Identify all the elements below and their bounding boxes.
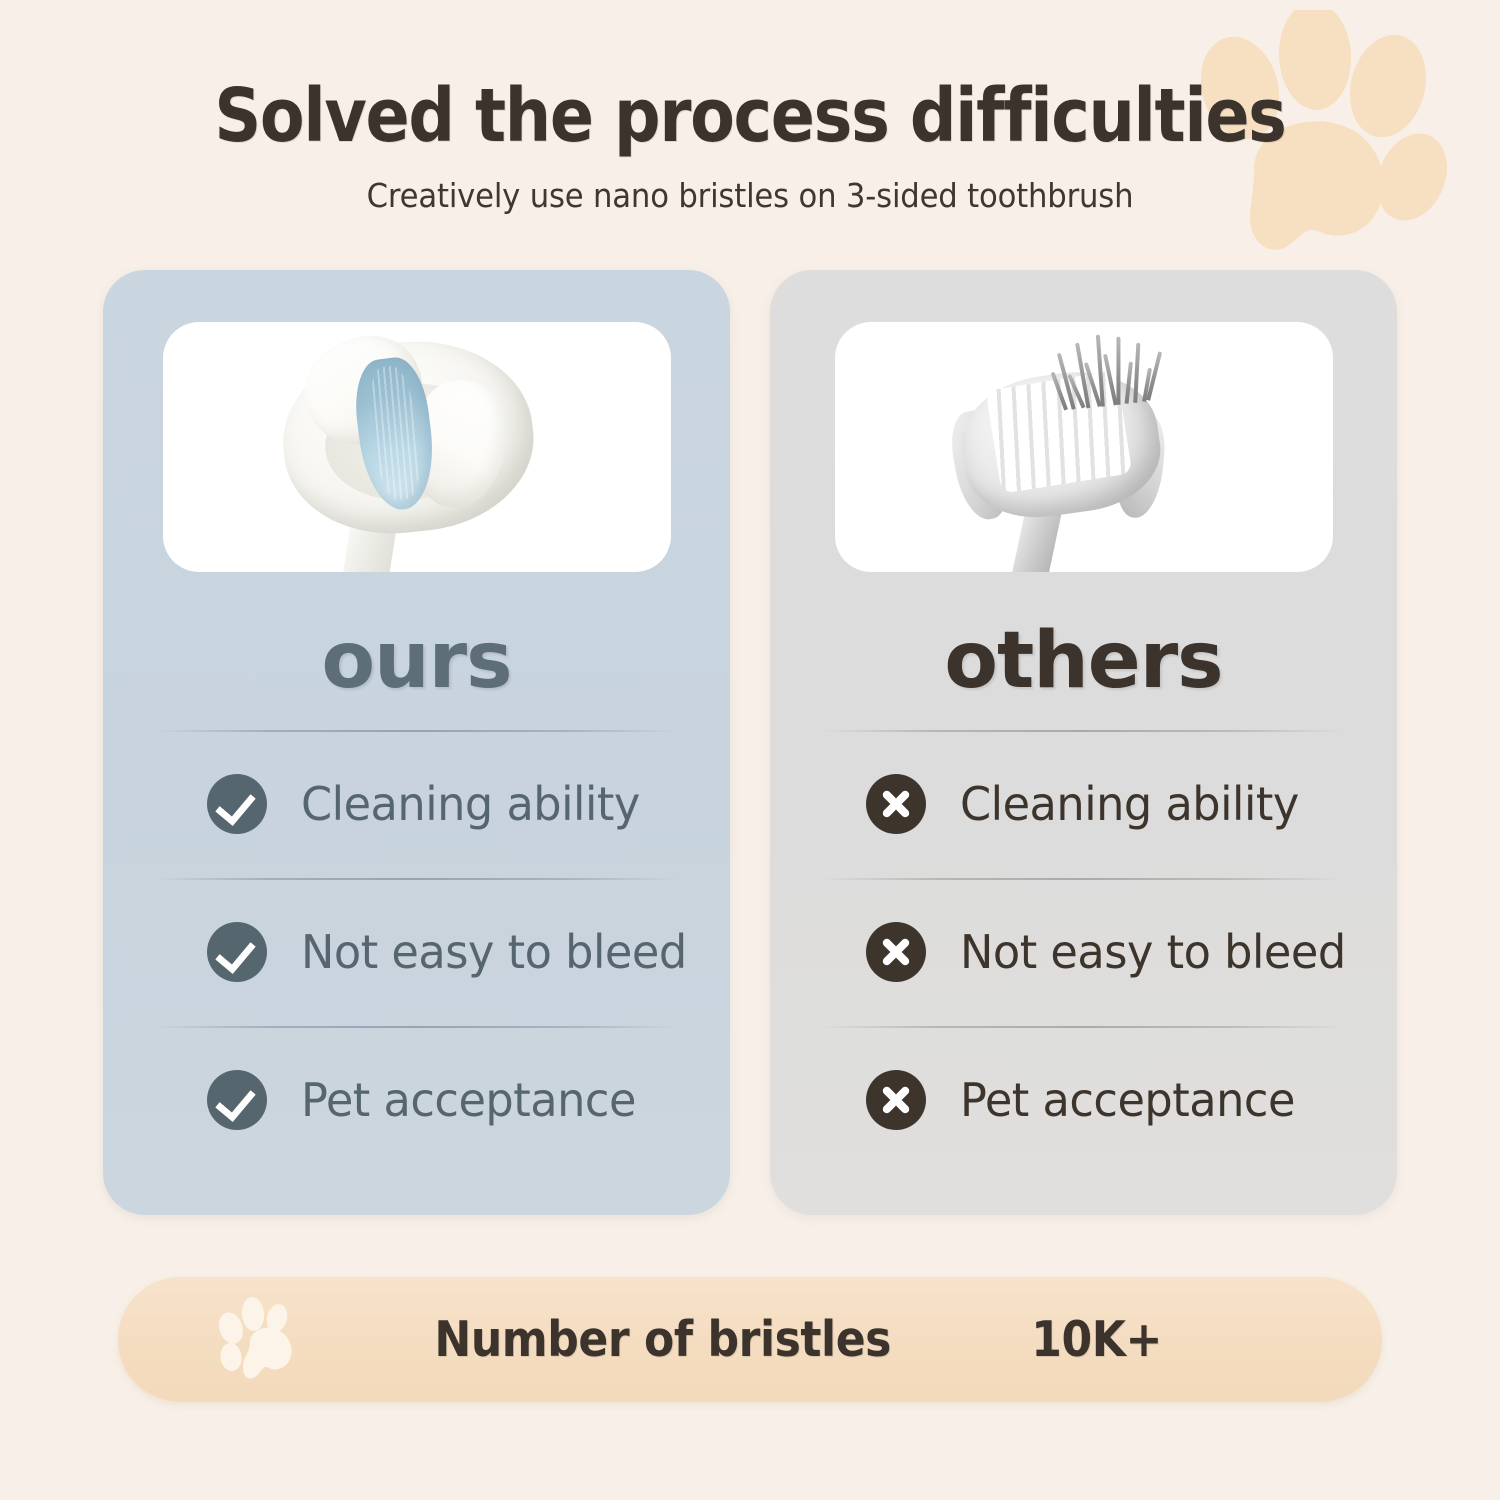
comparison-cards: ours Cleaning ability Not easy to bleed … (103, 270, 1397, 1215)
card-heading-ours: ours (103, 622, 730, 700)
page-title: Solved the process difficulties (90, 0, 1410, 156)
comparison-card-ours: ours Cleaning ability Not easy to bleed … (103, 270, 730, 1215)
product-image-others (835, 322, 1333, 572)
check-icon (207, 1070, 267, 1130)
cross-icon (866, 774, 926, 834)
feature-label: Cleaning ability (301, 777, 640, 831)
feature-label: Not easy to bleed (301, 925, 687, 979)
row-divider (155, 878, 678, 880)
feature-row: Cleaning ability (103, 730, 730, 878)
banner-value: 10K+ (1031, 1311, 1162, 1368)
cross-icon (866, 1070, 926, 1130)
page-subtitle: Creatively use nano bristles on 3-sided … (53, 156, 1448, 215)
feature-row: Cleaning ability (770, 730, 1397, 878)
row-divider (155, 1026, 678, 1028)
row-divider (822, 1026, 1345, 1028)
feature-row: Not easy to bleed (103, 878, 730, 1026)
feature-list-ours: Cleaning ability Not easy to bleed Pet a… (103, 730, 730, 1174)
feature-label: Not easy to bleed (960, 925, 1346, 979)
check-icon (207, 774, 267, 834)
cross-icon (866, 922, 926, 982)
feature-label: Cleaning ability (960, 777, 1299, 831)
toothbrush-ours-illustration (163, 322, 671, 572)
row-divider (822, 878, 1345, 880)
banner-text-group: Number of bristles 10K+ (306, 1311, 1382, 1368)
bristle-count-banner: Number of bristles 10K+ (118, 1277, 1382, 1402)
paw-print-icon (214, 1294, 306, 1386)
row-divider (155, 730, 678, 732)
feature-label: Pet acceptance (960, 1073, 1295, 1127)
banner-label: Number of bristles (434, 1311, 891, 1368)
feature-row: Pet acceptance (103, 1026, 730, 1174)
feature-label: Pet acceptance (301, 1073, 636, 1127)
check-icon (207, 922, 267, 982)
product-image-ours (163, 322, 671, 572)
feature-list-others: Cleaning ability Not easy to bleed Pet a… (770, 730, 1397, 1174)
card-heading-others: others (770, 622, 1397, 700)
comparison-card-others: others Cleaning ability Not easy to blee… (770, 270, 1397, 1215)
feature-row: Pet acceptance (770, 1026, 1397, 1174)
row-divider (822, 730, 1345, 732)
toothbrush-others-illustration (835, 322, 1333, 572)
feature-row: Not easy to bleed (770, 878, 1397, 1026)
page-header: Solved the process difficulties Creative… (0, 0, 1500, 215)
